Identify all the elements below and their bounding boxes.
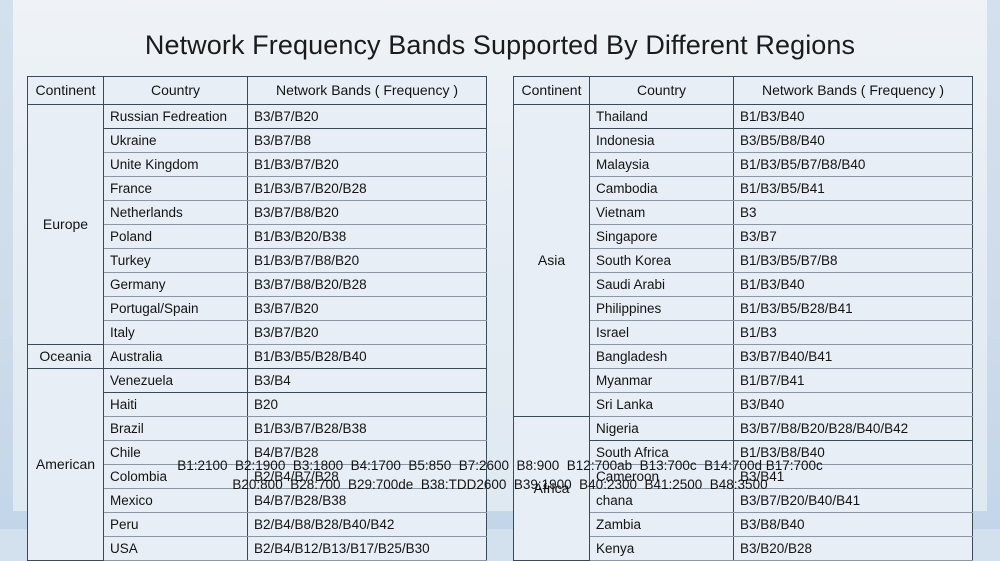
cell-country: Malaysia xyxy=(590,153,734,177)
cell-bands: B3/B20/B28 xyxy=(734,537,973,561)
table-header-row: Continent Country Network Bands ( Freque… xyxy=(514,77,973,105)
cell-country: Germany xyxy=(104,273,248,297)
cell-bands: B3/B7/B40/B41 xyxy=(734,345,973,369)
cell-bands: B1/B3/B40 xyxy=(734,273,973,297)
legend-line-1: B1:2100 B2:1900 B3:1800 B4:1700 B5:850 B… xyxy=(13,458,987,473)
cell-bands: B1/B3/B5/B7/B8 xyxy=(734,249,973,273)
table-row: EuropeRussian FedreationB3/B7/B20 xyxy=(28,105,487,129)
cell-country: Haiti xyxy=(104,393,248,417)
cell-country: Ukraine xyxy=(104,129,248,153)
column-header-bands: Network Bands ( Frequency ) xyxy=(248,77,487,105)
cell-country: Mexico xyxy=(104,489,248,513)
cell-continent: Asia xyxy=(514,105,590,417)
table-left-header: Continent Country Network Bands ( Freque… xyxy=(28,77,487,105)
cell-country: Philippines xyxy=(590,297,734,321)
cell-bands: B20 xyxy=(248,393,487,417)
cell-bands: B4/B7/B28/B38 xyxy=(248,489,487,513)
cell-country: Vietnam xyxy=(590,201,734,225)
cell-continent: Oceania xyxy=(28,345,104,369)
cell-bands: B1/B3/B5/B28/B40 xyxy=(248,345,487,369)
cell-country: chana xyxy=(590,489,734,513)
cell-bands: B1/B3/B5/B41 xyxy=(734,177,973,201)
cell-bands: B3/B7 xyxy=(734,225,973,249)
cell-country: Nigeria xyxy=(590,417,734,441)
column-header-country: Country xyxy=(590,77,734,105)
cell-country: Brazil xyxy=(104,417,248,441)
cell-bands: B3/B4 xyxy=(248,369,487,393)
cell-bands: B1/B3/B40 xyxy=(734,105,973,129)
cell-country: Zambia xyxy=(590,513,734,537)
cell-bands: B1/B3/B7/B20 xyxy=(248,153,487,177)
table-row: AmericanVenezuelaB3/B4 xyxy=(28,369,487,393)
cell-country: Russian Fedreation xyxy=(104,105,248,129)
column-header-continent: Continent xyxy=(28,77,104,105)
cell-bands: B3/B40 xyxy=(734,393,973,417)
cell-bands: B3/B8/B40 xyxy=(734,513,973,537)
table-header-row: Continent Country Network Bands ( Freque… xyxy=(28,77,487,105)
cell-country: Venezuela xyxy=(104,369,248,393)
cell-country: Cambodia xyxy=(590,177,734,201)
cell-country: Portugal/Spain xyxy=(104,297,248,321)
cell-bands: B1/B3/B5/B28/B41 xyxy=(734,297,973,321)
cell-country: Thailand xyxy=(590,105,734,129)
cell-bands: B1/B7/B41 xyxy=(734,369,973,393)
cell-country: Myanmar xyxy=(590,369,734,393)
cell-bands: B3/B7/B20 xyxy=(248,297,487,321)
cell-bands: B3/B7/B20/B40/B41 xyxy=(734,489,973,513)
cell-country: Peru xyxy=(104,513,248,537)
cell-country: Bangladesh xyxy=(590,345,734,369)
cell-country: Israel xyxy=(590,321,734,345)
cell-country: Australia xyxy=(104,345,248,369)
cell-country: USA xyxy=(104,537,248,561)
cell-bands: B3/B7/B8/B20/B28/B40/B42 xyxy=(734,417,973,441)
cell-bands: B2/B4/B8/B28/B40/B42 xyxy=(248,513,487,537)
cell-bands: B3/B7/B20 xyxy=(248,321,487,345)
cell-country: Singapore xyxy=(590,225,734,249)
table-left-body: EuropeRussian FedreationB3/B7/B20Ukraine… xyxy=(28,105,487,561)
cell-country: South Korea xyxy=(590,249,734,273)
cell-country: Turkey xyxy=(104,249,248,273)
page-title: Network Frequency Bands Supported By Dif… xyxy=(13,30,987,61)
legend-line-2: B20:800 B28:700 B29:700de B38:TDD2600 B3… xyxy=(13,477,987,492)
column-header-bands: Network Bands ( Frequency ) xyxy=(734,77,973,105)
cell-country: Poland xyxy=(104,225,248,249)
cell-country: Netherlands xyxy=(104,201,248,225)
table-row: OceaniaAustraliaB1/B3/B5/B28/B40 xyxy=(28,345,487,369)
cell-country: Kenya xyxy=(590,537,734,561)
cell-bands: B1/B3 xyxy=(734,321,973,345)
column-header-continent: Continent xyxy=(514,77,590,105)
cell-country: Italy xyxy=(104,321,248,345)
cell-bands: B3/B7/B8/B20/B28 xyxy=(248,273,487,297)
cell-bands: B1/B3/B5/B7/B8/B40 xyxy=(734,153,973,177)
cell-bands: B3/B7/B8 xyxy=(248,129,487,153)
cell-continent: Europe xyxy=(28,105,104,345)
table-row: AsiaThailandB1/B3/B40 xyxy=(514,105,973,129)
cell-country: Saudi Arabi xyxy=(590,273,734,297)
cell-bands: B3/B7/B20 xyxy=(248,105,487,129)
cell-bands: B1/B3/B20/B38 xyxy=(248,225,487,249)
cell-bands: B3 xyxy=(734,201,973,225)
column-header-country: Country xyxy=(104,77,248,105)
table-right-header: Continent Country Network Bands ( Freque… xyxy=(514,77,973,105)
cell-country: France xyxy=(104,177,248,201)
table-row: AfricaNigeriaB3/B7/B8/B20/B28/B40/B42 xyxy=(514,417,973,441)
cell-country: Indonesia xyxy=(590,129,734,153)
cell-bands: B2/B4/B12/B13/B17/B25/B30 xyxy=(248,537,487,561)
cell-bands: B1/B3/B7/B28/B38 xyxy=(248,417,487,441)
table-right-body: AsiaThailandB1/B3/B40IndonesiaB3/B5/B8/B… xyxy=(514,105,973,561)
cell-country: Unite Kingdom xyxy=(104,153,248,177)
content-card: Network Frequency Bands Supported By Dif… xyxy=(13,0,987,511)
page-root: Network Frequency Bands Supported By Dif… xyxy=(0,0,1000,529)
cell-country: Sri Lanka xyxy=(590,393,734,417)
cell-bands: B3/B5/B8/B40 xyxy=(734,129,973,153)
cell-bands: B1/B3/B7/B8/B20 xyxy=(248,249,487,273)
cell-bands: B3/B7/B8/B20 xyxy=(248,201,487,225)
cell-bands: B1/B3/B7/B20/B28 xyxy=(248,177,487,201)
